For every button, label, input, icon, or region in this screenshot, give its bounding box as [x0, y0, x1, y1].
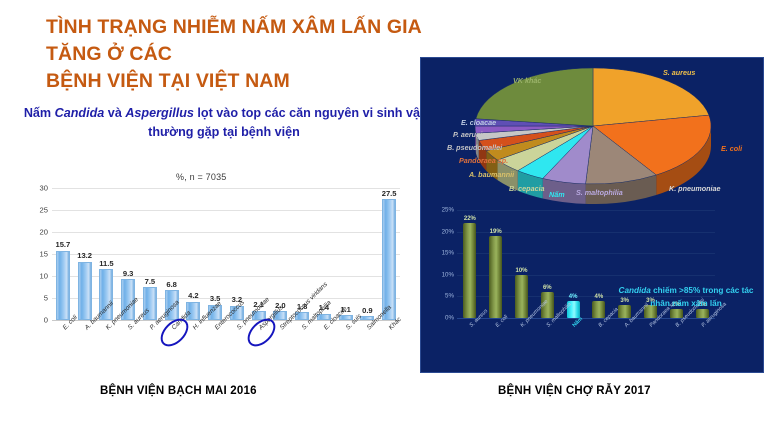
right-chart-bar-item[interactable]: 4% — [560, 210, 586, 318]
left-chart-x-label-cell: Candida — [161, 324, 183, 370]
left-chart-bar-item[interactable]: 1.1 — [335, 188, 357, 320]
title-line-2: BỆNH VIỆN TẠI VIỆT NAM — [46, 68, 446, 95]
left-chart-x-label-cell: E. cloacae — [313, 324, 335, 370]
cho-ray-bar-chart: 0%5%10%15%20%25%22%19%10%6%4%4%3%3%2%2% … — [421, 204, 764, 373]
pie-slice-label: A. baumannii — [469, 170, 514, 179]
annotation-text: chiếm >85% trong các tác nhân nấm xâm lấ… — [650, 286, 753, 308]
left-chart-x-label-cell: K. pneumoniae — [96, 324, 118, 370]
left-chart-x-label-cell: Streptococcus viridans — [270, 324, 292, 370]
left-chart-bar-value: 13.2 — [77, 251, 92, 260]
left-chart-x-label-cell: Salmonella — [357, 324, 379, 370]
left-chart-bar-value: 15.7 — [55, 240, 70, 249]
left-chart-bar-item[interactable]: 0.9 — [357, 188, 379, 320]
right-chart-bar-value: 22% — [464, 216, 476, 222]
left-chart-caption: BỆNH VIỆN BẠCH MAI 2016 — [100, 385, 257, 397]
left-chart-x-label-cell: H. influenzae — [183, 324, 205, 370]
left-chart-y-tick: 10 — [40, 272, 48, 281]
left-chart-y-tick: 25 — [40, 206, 48, 215]
left-chart-y-tick: 0 — [44, 316, 48, 325]
left-chart-x-label-cell: S. maltophilia — [291, 324, 313, 370]
right-chart-y-tick: 15% — [442, 250, 454, 257]
right-chart-x-label-cell: S. maltophilia — [534, 322, 560, 368]
right-chart-caption: BỆNH VIỆN CHỢ RẪY 2017 — [498, 385, 651, 397]
left-chart-x-label-cell: S. suis — [335, 324, 357, 370]
right-chart-bar-item[interactable]: 22% — [457, 210, 483, 318]
left-chart-bar-item[interactable]: 11.5 — [96, 188, 118, 320]
left-chart-bar-item[interactable]: 27.5 — [378, 188, 400, 320]
right-chart-bar-value: 4% — [595, 294, 604, 300]
right-chart-gridline — [457, 318, 715, 319]
right-chart-x-label-cell: B. pseudomallei — [663, 322, 689, 368]
right-chart-bar-value: 19% — [490, 229, 502, 235]
right-chart-x-label-cell: B. cepacia — [586, 322, 612, 368]
left-chart-x-label-cell: Enterococcus — [204, 324, 226, 370]
right-chart-bar-value: 4% — [569, 294, 578, 300]
right-chart-x-label-cell: E. coli — [483, 322, 509, 368]
left-chart-bar-value: 9.3 — [123, 269, 134, 278]
annotation-italic: Candida — [619, 286, 651, 295]
right-chart-x-label-cell: S. aureus — [457, 322, 483, 368]
candida-annotation: Candida chiếm >85% trong các tác nhân nấ… — [611, 284, 761, 310]
left-chart-x-label-cell: S. pneumoniae — [226, 324, 248, 370]
left-chart-bar-item[interactable]: 1.4 — [313, 188, 335, 320]
left-chart-x-label-cell: E. coli — [52, 324, 74, 370]
page-title: TÌNH TRẠNG NHIỄM NẤM XÂM LẤN GIA TĂNG Ở … — [46, 14, 446, 95]
left-chart-bar-value: 4.2 — [188, 291, 199, 300]
left-chart-y-tick: 15 — [40, 250, 48, 259]
right-chart-y-tick: 10% — [442, 271, 454, 278]
cho-ray-panel: S. aureusE. coliK. pneumoniaeS. maltophi… — [420, 57, 764, 373]
right-chart-x-label-cell: Nấm — [560, 322, 586, 368]
right-chart-bar — [592, 301, 605, 318]
right-chart-x-label-cell: Pandoraea sp. — [638, 322, 664, 368]
pie-slice-label: B. pseudomallei — [447, 143, 502, 152]
right-chart-bar-item[interactable]: 19% — [483, 210, 509, 318]
left-chart-bar-item[interactable]: 7.5 — [139, 188, 161, 320]
left-chart-x-label-cell: A. baumannii — [74, 324, 96, 370]
subtitle-italic-aspergillus: Aspergillus — [125, 106, 194, 120]
left-chart-x-label-cell: P. aeruginosa — [139, 324, 161, 370]
subtitle-mid: và — [104, 106, 125, 120]
title-line-1: TÌNH TRẠNG NHIỄM NẤM XÂM LẤN GIA TĂNG Ở … — [46, 14, 446, 68]
right-chart-y-tick: 25% — [442, 207, 454, 214]
subtitle-pre: Nấm — [24, 106, 55, 120]
left-chart-x-axis-labels: E. coliA. baumanniiK. pneumoniaeS. aureu… — [52, 324, 400, 370]
left-chart-bar-item[interactable]: 2.0 — [270, 188, 292, 320]
right-chart-bar-item[interactable]: 10% — [509, 210, 535, 318]
pie-chart-svg — [473, 64, 733, 204]
pie-slice-label: Nấm — [549, 190, 565, 199]
slide-root: TÌNH TRẠNG NHIỄM NẤM XÂM LẤN GIA TĂNG Ở … — [0, 0, 770, 435]
left-chart-bar — [56, 251, 70, 320]
left-chart-y-tick: 5 — [44, 294, 48, 303]
left-chart-bar — [78, 262, 92, 320]
left-chart-x-label-cell: S. aureus — [117, 324, 139, 370]
left-chart-bar-item[interactable]: 13.2 — [74, 188, 96, 320]
left-chart-bars: 15.713.211.59.37.56.84.23.53.22.12.01.81… — [52, 188, 400, 320]
left-chart-bar-item[interactable]: 3.5 — [204, 188, 226, 320]
subtitle-italic-candida: Candida — [55, 106, 105, 120]
pie-slice-label: Pandoraea sp. — [459, 156, 508, 165]
pie-slice-label: P. aeruginosa — [453, 130, 499, 139]
pie-slice-label: E. coli — [721, 144, 742, 153]
pie-slice-label: B. cepacia — [509, 184, 545, 193]
left-chart-bar-value: 11.5 — [99, 259, 113, 268]
right-chart-bar — [489, 236, 502, 318]
left-chart-bar-value: 27.5 — [382, 189, 397, 198]
right-chart-y-tick: 20% — [442, 228, 454, 235]
bach-mai-bar-chart: %, n = 7035 05101520253015.713.211.59.37… — [18, 172, 413, 372]
left-chart-bar-item[interactable]: 3.2 — [226, 188, 248, 320]
cho-ray-pie-chart: S. aureusE. coliK. pneumoniaeS. maltophi… — [421, 58, 764, 208]
pie-slice-label: E. cloacae — [461, 118, 496, 127]
left-chart-bar-item[interactable]: 4.2 — [183, 188, 205, 320]
right-chart-y-tick: 5% — [445, 293, 454, 300]
left-chart-x-label-cell: Khác — [378, 324, 400, 370]
right-chart-y-tick: 0% — [445, 315, 454, 322]
pie-slice-label: S. maltophilia — [576, 188, 623, 197]
left-chart-y-tick: 20 — [40, 228, 48, 237]
right-chart-x-label-cell: K. pneumoniae — [509, 322, 535, 368]
left-chart-bar-item[interactable]: 6.8 — [161, 188, 183, 320]
left-chart-bar-value: 6.8 — [166, 280, 177, 289]
left-chart-title: %, n = 7035 — [176, 172, 227, 182]
right-chart-x-axis-labels: S. aureusE. coliK. pneumoniaeS. maltophi… — [457, 322, 715, 368]
subtitle: Nấm Candida và Aspergillus lọt vào top c… — [14, 104, 434, 142]
right-chart-bar-value: 6% — [543, 285, 552, 291]
pie-slice-label: K. pneumoniae — [669, 184, 721, 193]
left-chart-bar-value: 0.9 — [362, 306, 373, 315]
right-chart-bar — [515, 275, 528, 318]
left-chart-bar-item[interactable]: 15.7 — [52, 188, 74, 320]
pie-slice-label: VK khác — [513, 76, 541, 85]
left-chart-plot-area: 05101520253015.713.211.59.37.56.84.23.53… — [52, 188, 400, 320]
right-chart-bar — [463, 223, 476, 318]
pie-slice-label: S. aureus — [663, 68, 695, 77]
right-chart-x-label-cell: A. baumannii — [612, 322, 638, 368]
right-chart-x-label-cell: P. aeruginosa — [689, 322, 715, 368]
left-chart-y-tick: 30 — [40, 184, 48, 193]
right-chart-bar-item[interactable]: 4% — [586, 210, 612, 318]
right-chart-bar-value: 10% — [515, 268, 527, 274]
left-chart-bar-value: 7.5 — [145, 277, 156, 286]
left-chart-bar — [382, 199, 396, 320]
left-chart-x-label-cell: Aspergillus — [248, 324, 270, 370]
